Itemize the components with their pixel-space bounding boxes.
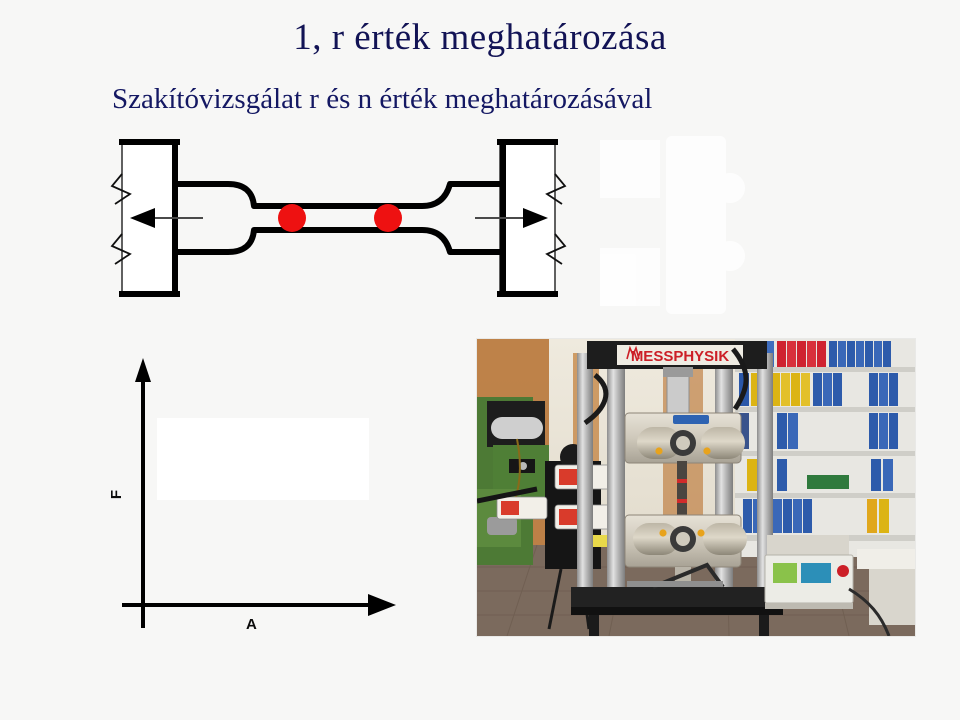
- slide-subtitle: Szakítóvizsgálat r és n érték meghatároz…: [112, 84, 652, 116]
- chart-y-axis: [135, 358, 151, 628]
- page-title: 1, r érték meghatározása: [0, 18, 960, 59]
- force-elongation-chart: [100, 348, 420, 640]
- lab-photo: MESSPHYSIK: [477, 339, 915, 636]
- specimen-body: [172, 184, 506, 252]
- gauge-mark-dot: [374, 204, 402, 232]
- chart-x-axis-label: A: [246, 616, 257, 633]
- slide-canvas: 1, r érték meghatározása Szakítóvizsgála…: [0, 0, 960, 720]
- chart-y-axis-label: F: [108, 490, 125, 499]
- tensile-specimen-diagram: [100, 130, 720, 315]
- chart-x-axis: [122, 594, 396, 616]
- photo-brand-banner-text: MESSPHYSIK: [631, 348, 730, 365]
- gauge-mark-dot: [278, 204, 306, 232]
